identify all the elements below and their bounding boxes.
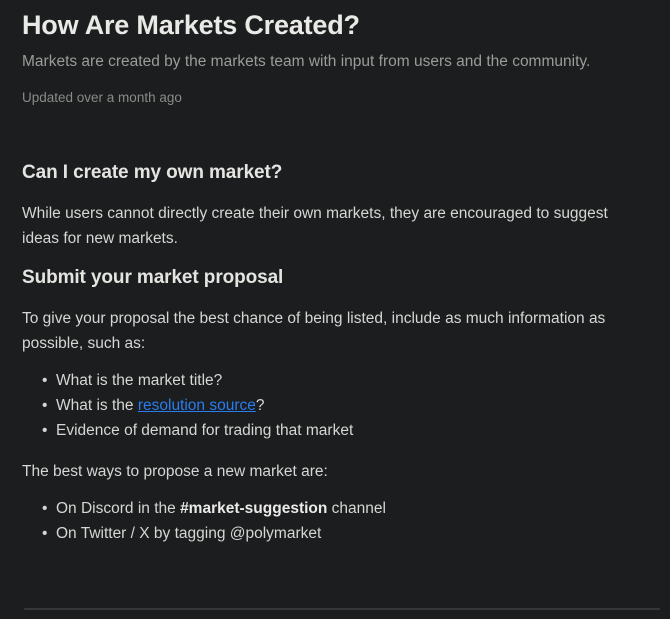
list-item-label-prefix: On Discord in the [56,500,180,517]
best-ways-paragraph: The best ways to propose a new market ar… [22,443,648,484]
list-item-label-suffix: ? [256,397,265,414]
section-heading-create-own-market: Can I create my own market? [22,160,648,185]
list-item: On Discord in the #market-suggestion cha… [22,496,648,521]
article-page: How Are Markets Created? Markets are cre… [0,0,670,619]
article-body: Can I create my own market? While users … [22,107,648,546]
discord-channel-name: #market-suggestion [180,500,327,517]
footer-divider [24,608,660,610]
resolution-source-link[interactable]: resolution source [138,397,256,414]
list-item-label: Evidence of demand for trading that mark… [56,422,353,439]
list-item: Evidence of demand for trading that mark… [22,418,648,443]
article-updated-timestamp: Updated over a month ago [22,72,648,107]
section-paragraph-create-own-market: While users cannot directly create their… [22,185,648,251]
section-heading-submit-proposal: Submit your market proposal [22,251,648,290]
section-paragraph-submit-proposal: To give your proposal the best chance of… [22,290,648,356]
list-item: What is the resolution source? [22,393,648,418]
best-ways-list: On Discord in the #market-suggestion cha… [22,484,648,546]
list-item-label-prefix: What is the [56,397,138,414]
list-item: On Twitter / X by tagging @polymarket [22,521,648,546]
list-item-label-suffix: channel [327,500,386,517]
article-subtitle: Markets are created by the markets team … [22,42,648,72]
proposal-info-list: What is the market title? What is the re… [22,356,648,443]
page-title: How Are Markets Created? [22,0,648,42]
list-item: What is the market title? [22,368,648,393]
list-item-label: What is the market title? [56,372,222,389]
list-item-label: On Twitter / X by tagging @polymarket [56,525,321,542]
